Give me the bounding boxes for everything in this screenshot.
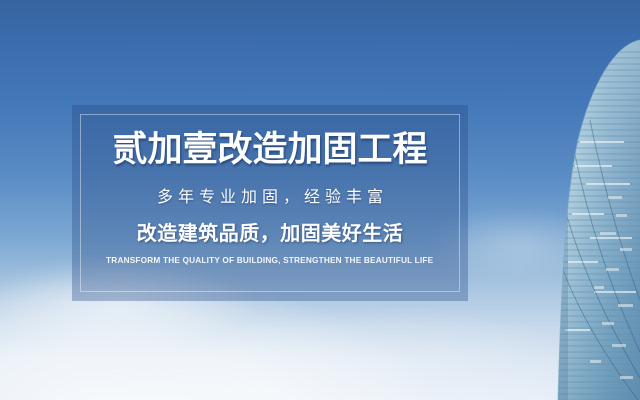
skyscraper: [520, 0, 640, 400]
skyscraper-illustration: [520, 0, 640, 400]
tower-body: [520, 0, 640, 400]
tagline-text: 改造建筑品质，加固美好生活: [137, 223, 404, 243]
banner-image: 贰加壹改造加固工程 多年专业加固，经验丰富 改造建筑品质，加固美好生活 TRAN…: [0, 0, 640, 400]
hero-text-panel: 贰加壹改造加固工程 多年专业加固，经验丰富 改造建筑品质，加固美好生活 TRAN…: [72, 105, 468, 301]
panel-content: 贰加壹改造加固工程 多年专业加固，经验丰富 改造建筑品质，加固美好生活 TRAN…: [72, 105, 468, 301]
english-tagline-text: TRANSFORM THE QUALITY OF BUILDING, STREN…: [106, 256, 433, 265]
page-title: 贰加壹改造加固工程: [112, 133, 427, 168]
subtitle-text: 多年专业加固，经验丰富: [152, 189, 388, 205]
